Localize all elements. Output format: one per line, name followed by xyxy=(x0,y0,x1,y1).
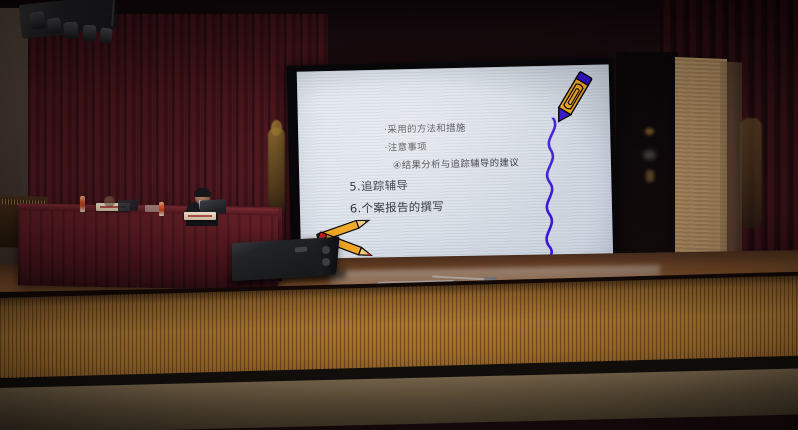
water-bottle xyxy=(159,202,164,216)
backstage-light-glow xyxy=(646,170,654,182)
name-placard-text xyxy=(188,215,212,217)
seated-speaker-hair xyxy=(194,188,211,197)
speaker-logo xyxy=(295,247,307,253)
slide-bullet-3: ④结果分析与追踪辅导的建议 xyxy=(393,154,519,171)
slide-item-5: 5.追踪辅导 xyxy=(349,177,408,194)
slide-bullet-2: ·注意事项 xyxy=(384,139,427,154)
backstage-gap xyxy=(616,52,678,276)
water-bottle xyxy=(80,196,85,212)
papers xyxy=(145,205,159,212)
backstage-light-glow xyxy=(645,128,654,135)
speaker-driver xyxy=(322,258,330,266)
speaker-driver xyxy=(322,246,330,254)
acoustic-panel-right-edge xyxy=(720,62,742,271)
backstage-light-glow xyxy=(643,150,656,160)
attendee-head xyxy=(104,196,115,207)
projection-screen[interactable]: ·采用的方法和措施 ·注意事项 ④结果分析与追踪辅导的建议 5.追踪辅导 6.个… xyxy=(297,64,614,269)
decorative-statue-head xyxy=(271,120,282,136)
laptop xyxy=(118,199,138,211)
stage-light xyxy=(83,25,97,41)
stage-light xyxy=(63,22,78,40)
auditorium-scene: ·采用的方法和措施 ·注意事项 ④结果分析与追踪辅导的建议 5.追踪辅导 6.个… xyxy=(0,0,798,430)
blue-wavy-line-icon xyxy=(534,117,571,258)
stage-light xyxy=(47,17,62,35)
stage-light xyxy=(99,27,113,43)
stage-light xyxy=(28,11,46,31)
decorative-statue-right xyxy=(740,118,762,228)
slide-bullet-1: ·采用的方法和措施 xyxy=(384,120,466,136)
slide-item-6: 6.个案报告的撰写 xyxy=(350,198,445,216)
decorative-statue xyxy=(268,128,285,214)
speaker-grille xyxy=(316,236,339,276)
